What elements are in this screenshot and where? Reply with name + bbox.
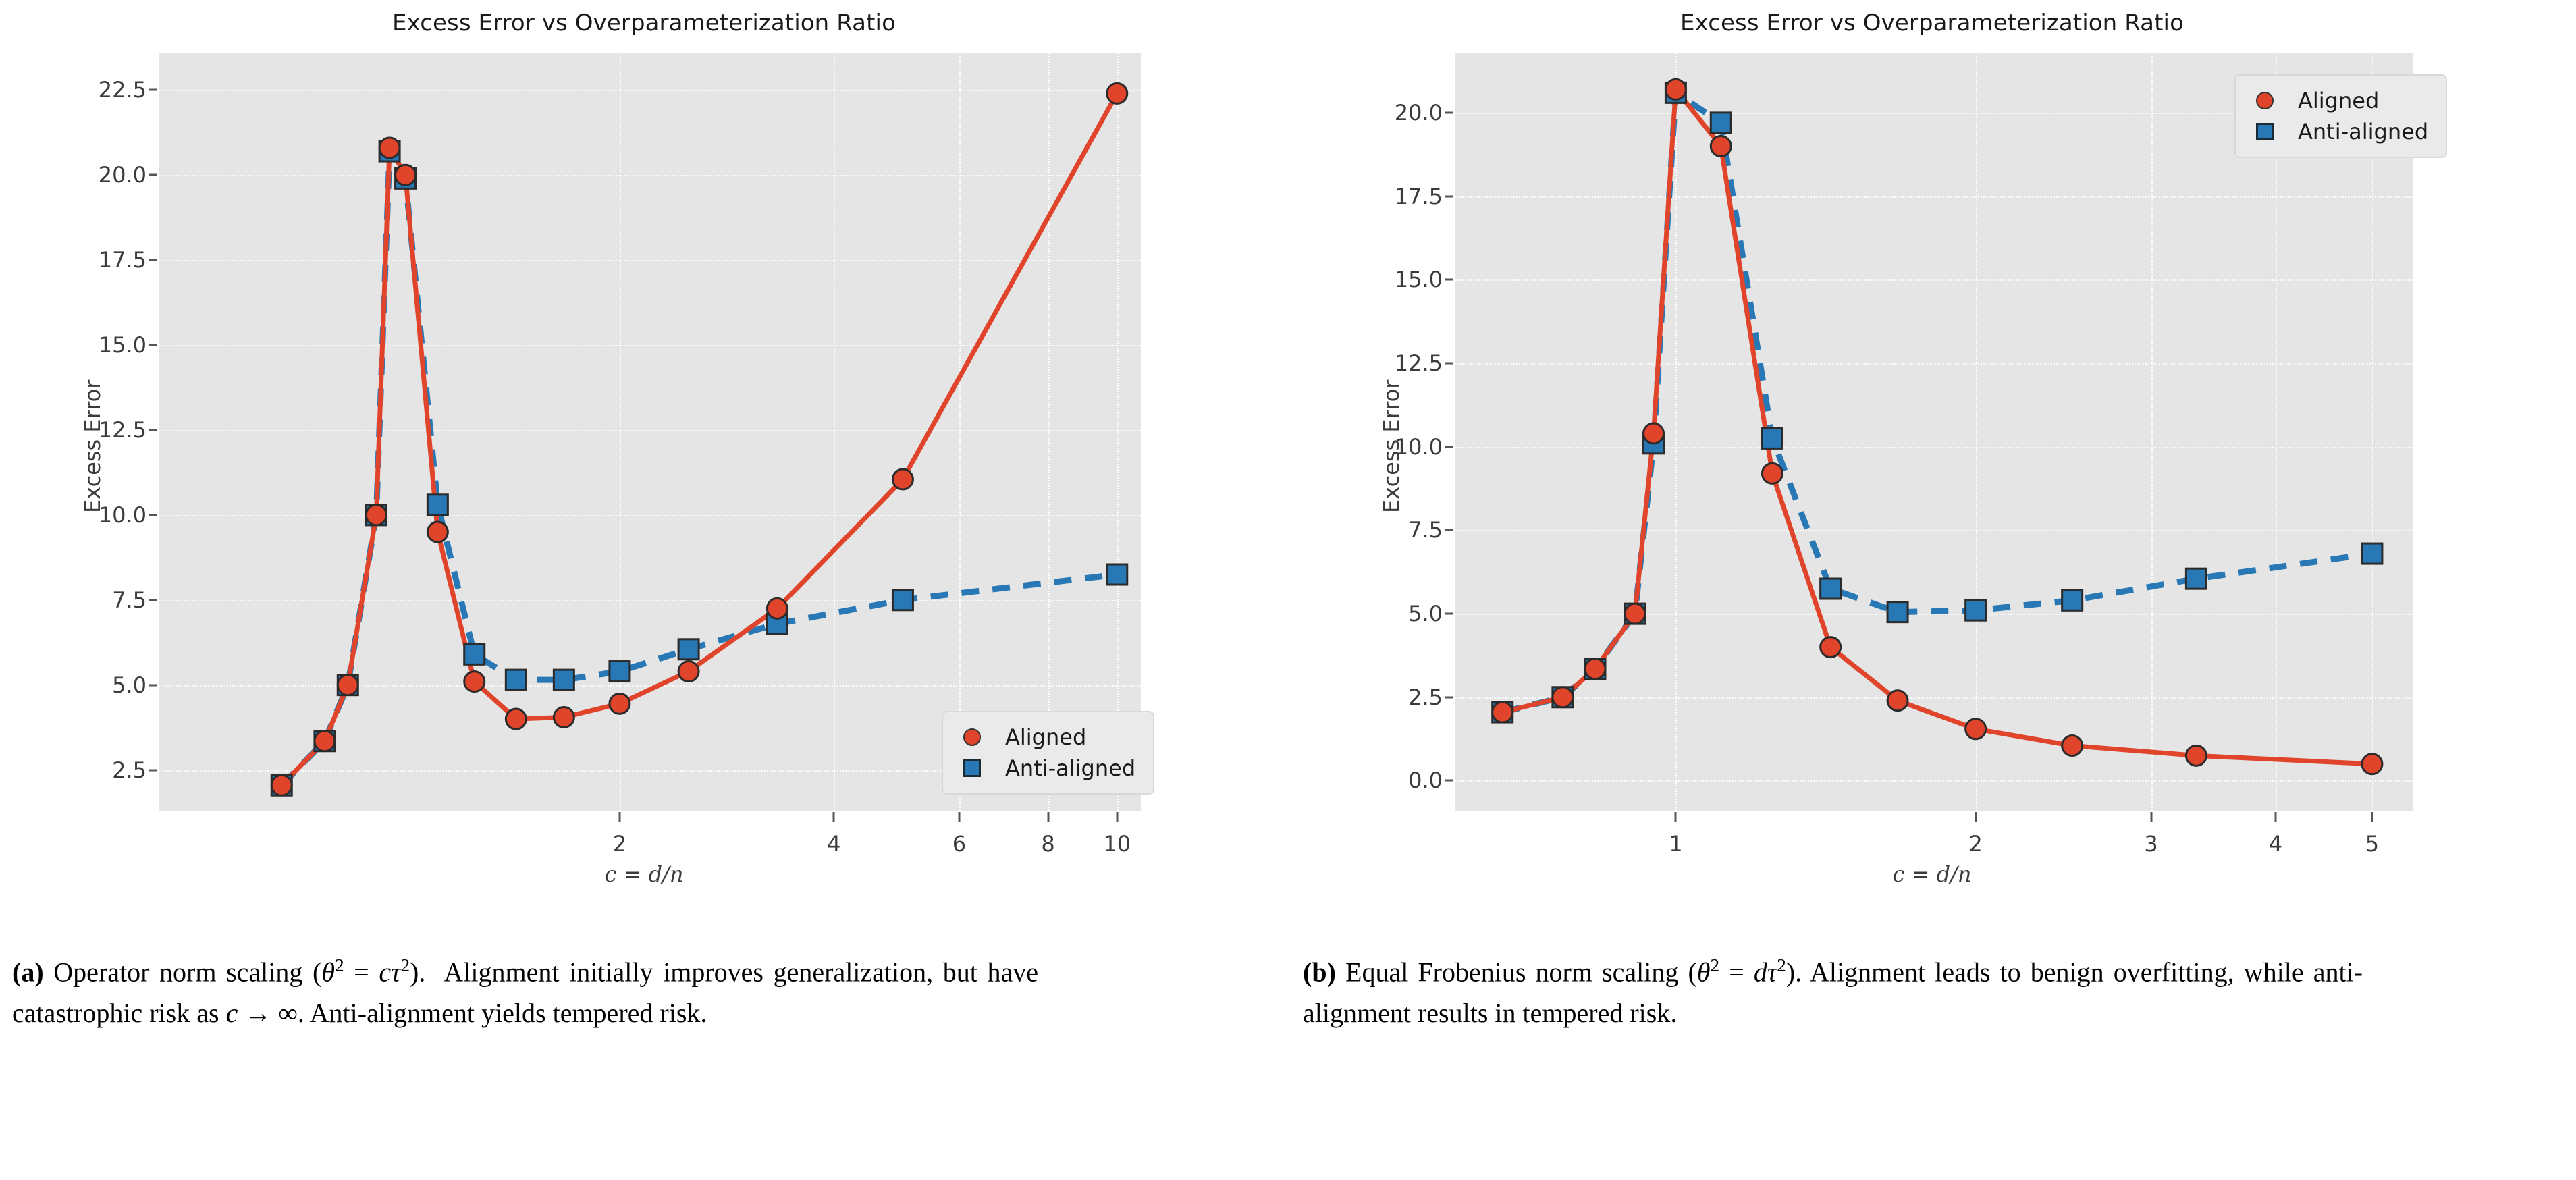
y-tick-label: 15.0 bbox=[1395, 267, 1443, 292]
y-tick-label: 15.0 bbox=[99, 332, 146, 358]
panel-b-xlabel: c = d/n bbox=[1288, 861, 2576, 887]
y-tick-label: 2.5 bbox=[1408, 685, 1443, 710]
data-point-aligned bbox=[1625, 604, 1645, 624]
legend-label-antialigned: Anti-aligned bbox=[2298, 119, 2428, 144]
y-tick-mark bbox=[149, 89, 157, 91]
panel-a-legend[interactable]: Aligned Anti-aligned bbox=[942, 711, 1154, 795]
x-tick-mark bbox=[1116, 812, 1118, 822]
y-tick-mark bbox=[149, 174, 157, 176]
y-tick-mark bbox=[1445, 112, 1453, 114]
data-point-aligned bbox=[338, 675, 358, 695]
caption-b-tag: (b) bbox=[1303, 957, 1336, 987]
data-point-aligned bbox=[1966, 719, 1986, 739]
panel-a-xlabel: c = d/n bbox=[0, 861, 1288, 887]
x-tick-mark bbox=[1047, 812, 1049, 822]
series-line-aligned bbox=[281, 93, 1117, 785]
legend-item-aligned[interactable]: Aligned bbox=[957, 722, 1135, 753]
y-tick-label: 12.5 bbox=[1395, 350, 1443, 376]
data-point-anti-aligned bbox=[678, 639, 699, 660]
x-tick-mark bbox=[958, 812, 960, 822]
legend-item-antialigned[interactable]: Anti-aligned bbox=[957, 753, 1135, 784]
data-point-anti-aligned bbox=[1762, 428, 1782, 448]
legend-label-aligned: Aligned bbox=[1005, 724, 1086, 750]
y-tick-mark bbox=[149, 769, 157, 771]
x-tick-mark bbox=[618, 812, 620, 822]
y-tick-label: 10.0 bbox=[99, 502, 146, 528]
panel-b-axes: 0.02.55.07.510.012.515.017.520.012345 bbox=[1455, 53, 2413, 811]
x-tick-mark bbox=[1975, 812, 1977, 822]
panel-a-ylabel: Excess Error bbox=[80, 380, 105, 513]
data-point-anti-aligned bbox=[2062, 590, 2083, 610]
y-tick-label: 7.5 bbox=[1408, 517, 1443, 543]
y-tick-mark bbox=[1445, 613, 1453, 615]
data-point-anti-aligned bbox=[1821, 579, 1841, 599]
legend-label-aligned: Aligned bbox=[2298, 88, 2379, 113]
figure-root: Excess Error vs Overparameterization Rat… bbox=[0, 0, 2576, 1180]
data-point-aligned bbox=[1553, 687, 1573, 707]
x-tick-label: 3 bbox=[2144, 831, 2157, 857]
panel-a-title: Excess Error vs Overparameterization Rat… bbox=[0, 9, 1288, 36]
x-tick-label: 6 bbox=[952, 831, 966, 857]
y-tick-label: 7.5 bbox=[112, 587, 146, 613]
caption-a-tag: (a) bbox=[12, 957, 44, 987]
panel-b-title: Excess Error vs Overparameterization Rat… bbox=[1288, 9, 2576, 36]
data-point-aligned bbox=[1762, 463, 1782, 483]
data-point-anti-aligned bbox=[1966, 600, 1986, 620]
data-point-aligned bbox=[1665, 79, 1686, 99]
y-tick-label: 17.5 bbox=[1395, 184, 1443, 209]
y-tick-label: 12.5 bbox=[99, 417, 146, 443]
panel-a-axes: 2.55.07.510.012.515.017.520.022.5246810 bbox=[159, 53, 1141, 811]
x-tick-mark bbox=[2150, 812, 2152, 822]
data-point-anti-aligned bbox=[427, 495, 448, 515]
y-tick-label: 22.5 bbox=[99, 77, 146, 103]
y-tick-mark bbox=[149, 344, 157, 346]
data-point-aligned bbox=[427, 522, 448, 542]
data-point-aligned bbox=[396, 165, 416, 185]
y-tick-label: 20.0 bbox=[99, 162, 146, 188]
legend-item-aligned[interactable]: Aligned bbox=[2249, 85, 2428, 116]
caption-a: (a) Operator norm scaling (θ2 = cτ2). Al… bbox=[12, 952, 1038, 1034]
aligned-marker-icon bbox=[957, 728, 988, 746]
data-point-aligned bbox=[379, 138, 400, 158]
y-tick-mark bbox=[1445, 195, 1453, 197]
x-tick-label: 2 bbox=[613, 831, 626, 857]
y-tick-label: 5.0 bbox=[112, 672, 146, 698]
x-tick-mark bbox=[1675, 812, 1677, 822]
series-line-aligned bbox=[1503, 89, 2372, 763]
data-point-aligned bbox=[506, 709, 526, 729]
data-point-aligned bbox=[767, 598, 787, 618]
series-line-anti-aligned bbox=[281, 151, 1117, 785]
data-point-aligned bbox=[1585, 659, 1605, 679]
data-point-aligned bbox=[678, 662, 699, 682]
data-point-anti-aligned bbox=[1107, 564, 1127, 585]
y-tick-mark bbox=[1445, 696, 1453, 698]
data-point-aligned bbox=[1887, 691, 1908, 711]
data-point-aligned bbox=[1644, 423, 1664, 444]
data-point-anti-aligned bbox=[2362, 543, 2382, 564]
data-point-aligned bbox=[1493, 702, 1513, 722]
data-point-aligned bbox=[1711, 136, 1731, 157]
y-tick-mark bbox=[149, 684, 157, 686]
data-point-aligned bbox=[2186, 745, 2206, 766]
data-point-anti-aligned bbox=[464, 644, 485, 664]
data-point-aligned bbox=[2062, 736, 2083, 756]
data-point-aligned bbox=[1107, 83, 1127, 103]
data-point-anti-aligned bbox=[892, 590, 913, 610]
x-tick-label: 5 bbox=[2365, 831, 2379, 857]
aligned-marker-icon bbox=[2249, 92, 2280, 109]
y-tick-mark bbox=[149, 599, 157, 601]
series-layer bbox=[159, 53, 1141, 811]
data-point-aligned bbox=[554, 707, 574, 728]
y-tick-mark bbox=[1445, 529, 1453, 531]
x-tick-label: 10 bbox=[1103, 831, 1131, 857]
series-layer bbox=[1455, 53, 2413, 811]
caption-b: (b) Equal Frobenius norm scaling (θ2 = d… bbox=[1303, 952, 2363, 1034]
y-tick-mark bbox=[1445, 780, 1453, 782]
x-tick-mark bbox=[2371, 812, 2373, 822]
legend-label-antialigned: Anti-aligned bbox=[1005, 755, 1135, 781]
data-point-anti-aligned bbox=[610, 662, 630, 682]
x-tick-label: 4 bbox=[827, 831, 840, 857]
y-tick-label: 17.5 bbox=[99, 247, 146, 273]
antialigned-marker-icon bbox=[957, 759, 988, 777]
data-point-aligned bbox=[315, 731, 335, 751]
y-tick-label: 20.0 bbox=[1395, 100, 1443, 126]
x-tick-label: 1 bbox=[1669, 831, 1682, 857]
data-point-aligned bbox=[892, 469, 913, 489]
data-point-anti-aligned bbox=[2186, 568, 2206, 589]
data-point-anti-aligned bbox=[1887, 602, 1908, 622]
y-tick-mark bbox=[1445, 446, 1453, 448]
y-tick-label: 5.0 bbox=[1408, 601, 1443, 626]
data-point-aligned bbox=[2362, 754, 2382, 774]
antialigned-marker-icon bbox=[2249, 123, 2280, 140]
data-point-anti-aligned bbox=[1711, 113, 1731, 133]
y-tick-mark bbox=[149, 259, 157, 261]
y-tick-mark bbox=[149, 429, 157, 431]
panel-b-legend[interactable]: Aligned Anti-aligned bbox=[2234, 74, 2447, 158]
y-tick-mark bbox=[1445, 363, 1453, 365]
y-tick-mark bbox=[149, 514, 157, 516]
data-point-aligned bbox=[464, 672, 485, 692]
data-point-aligned bbox=[610, 693, 630, 714]
x-tick-mark bbox=[2274, 812, 2276, 822]
x-tick-label: 4 bbox=[2269, 831, 2282, 857]
legend-item-antialigned[interactable]: Anti-aligned bbox=[2249, 116, 2428, 147]
data-point-anti-aligned bbox=[506, 670, 526, 690]
panel-b-ylabel: Excess Error bbox=[1378, 380, 1404, 513]
data-point-aligned bbox=[366, 505, 386, 525]
data-point-aligned bbox=[271, 775, 292, 795]
x-tick-mark bbox=[833, 812, 835, 822]
x-tick-label: 8 bbox=[1041, 831, 1054, 857]
y-tick-label: 0.0 bbox=[1408, 768, 1443, 793]
y-tick-mark bbox=[1445, 279, 1453, 281]
y-tick-label: 2.5 bbox=[112, 757, 146, 783]
data-point-anti-aligned bbox=[554, 670, 574, 690]
data-point-aligned bbox=[1821, 637, 1841, 658]
x-tick-label: 2 bbox=[1968, 831, 1982, 857]
